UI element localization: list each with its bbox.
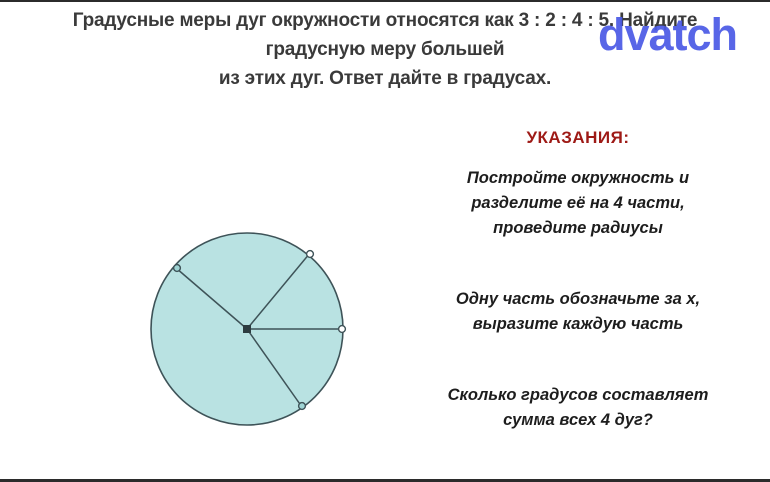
instruction-block-2: Одну часть обозначьте за x, выразите каж… [392,287,764,337]
center-point-marker [244,326,251,333]
instruction-2-line-2: выразите каждую часть [392,312,764,337]
circle-figure [140,220,362,440]
frame-top-border [0,0,770,2]
instruction-3-line-2: сумма всех 4 дуг? [392,408,764,433]
instruction-block-3: Сколько градусов составляет сумма всех 4… [392,383,764,433]
slide-canvas: Градусные меры дуг окружности относятся … [0,0,770,482]
watermark-text: dvatch [598,12,737,57]
statement-line-3: из этих дуг. Ответ дайте в градусах. [0,64,770,93]
endpoint-marker-upper-left [174,265,181,272]
instruction-3-line-1: Сколько градусов составляет [392,383,764,408]
instruction-1-line-3: проведите радиусы [392,216,764,241]
endpoint-marker-lower-right [299,403,306,410]
endpoint-marker-upper-right [307,251,314,258]
instruction-1-line-2: разделите её на 4 части, [392,191,764,216]
instruction-1-line-1: Постройте окружность и [392,166,764,191]
instructions-title: УКАЗАНИЯ: [392,128,764,148]
instruction-block-1: Постройте окружность и разделите её на 4… [392,166,764,241]
endpoint-marker-right [339,326,346,333]
instruction-2-line-1: Одну часть обозначьте за x, [392,287,764,312]
instructions-panel: УКАЗАНИЯ: Постройте окружность и раздели… [392,128,764,433]
